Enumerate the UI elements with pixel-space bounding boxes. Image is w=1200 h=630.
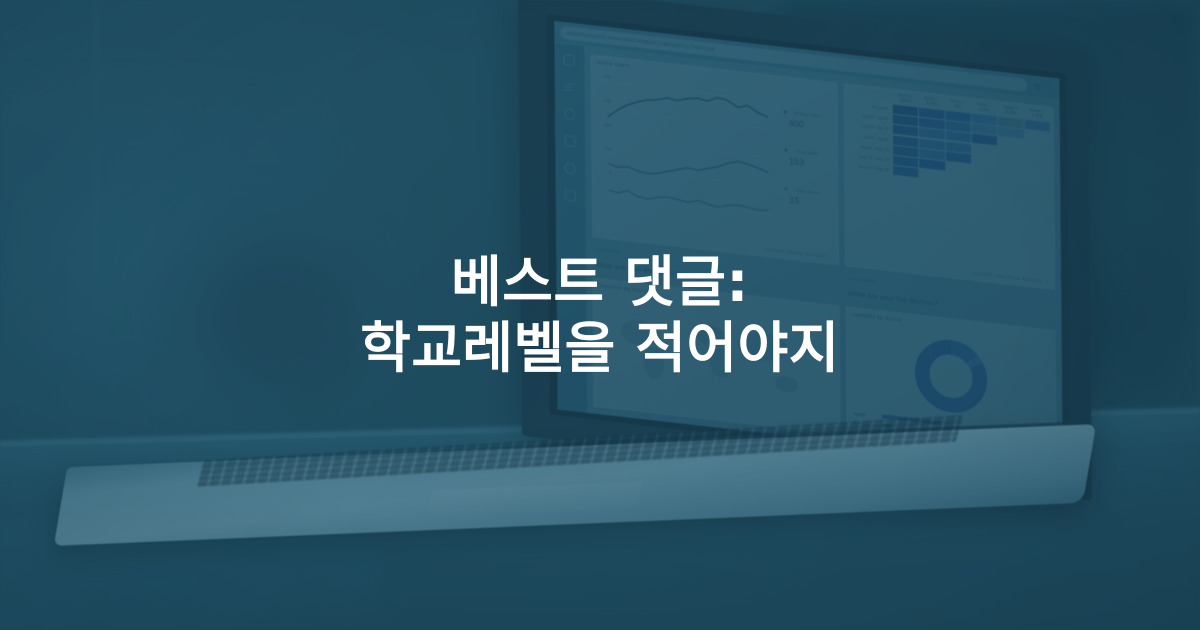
app-sidebar [555, 43, 588, 413]
world-map [600, 293, 834, 427]
users-icon[interactable] [564, 108, 575, 120]
metric-value: 400 [789, 119, 830, 133]
laptop: analytics/report5-home/a5837400bw1219810… [0, 0, 1200, 630]
metric-item: 1 Day Users 15 [784, 177, 830, 210]
chart-icon[interactable] [564, 135, 575, 147]
dashboard-right-column: Week 0 Week 1 Week 2 Week 3 Week 4 Week … [843, 83, 1056, 459]
dashboard-left-column: Active Users [591, 54, 841, 435]
sessions-by-country-card: Sessions by country [593, 277, 841, 435]
chevron-right-icon: › [1047, 279, 1050, 285]
metric-value: 15 [789, 196, 830, 210]
og-image-card: analytics/report5-home/a5837400bw1219810… [0, 0, 1200, 630]
active-users-card: Active Users [591, 54, 839, 265]
report-link-label: ACTIVE USERS REPORT [765, 247, 828, 259]
laptop-screen: analytics/report5-home/a5837400bw1219810… [554, 21, 1062, 467]
background-photo: analytics/report5-home/a5837400bw1219810… [0, 0, 1200, 630]
report-icon[interactable] [564, 81, 575, 93]
dashboard-content: Active Users [585, 46, 1063, 467]
cohort-cell-empty [1025, 181, 1050, 193]
settings-icon[interactable] [565, 162, 576, 174]
active-users-report-link[interactable]: ACTIVE USERS REPORT › [765, 247, 833, 261]
metric-item: 7 Day Users 153 [784, 139, 830, 172]
cohort-grid: Week 0 Week 1 Week 2 Week 3 Week 4 Week … [847, 86, 1050, 192]
y-tick: 200 [595, 121, 611, 128]
y-tick: 300 [595, 97, 611, 104]
report-link-label: COHORT ANALYSIS REPORT [970, 271, 1043, 284]
cohort-cell-empty [920, 169, 945, 181]
cohort-cell [893, 166, 918, 178]
metric-value: 153 [789, 157, 830, 171]
y-tick: 400 [595, 73, 611, 80]
chevron-right-icon: › [830, 254, 833, 260]
cohort-analysis-card: Week 0 Week 1 Week 2 Week 3 Week 4 Week … [843, 83, 1055, 290]
donut-svg [913, 334, 990, 419]
cohort-cell-empty [946, 172, 971, 184]
star-icon[interactable] [1032, 82, 1041, 92]
active-users-legend: 30 Day Users 400 7 Day Users 153 [784, 100, 831, 221]
kebab-menu-icon[interactable] [1046, 84, 1053, 92]
cohort-cell-empty [999, 178, 1024, 190]
metric-label: 1 Day Users [794, 187, 819, 195]
active-users-chart: 400 300 200 100 0 [596, 69, 834, 246]
home-icon[interactable] [564, 54, 575, 66]
cohort-cell-empty [972, 175, 997, 187]
cohort-report-link[interactable]: COHORT ANALYSIS REPORT › [970, 270, 1049, 285]
help-icon[interactable] [565, 189, 576, 201]
active-users-y-axis: 400 300 200 100 0 [595, 73, 612, 195]
y-tick: 100 [595, 145, 611, 152]
metric-label: 30 Day Users [794, 110, 821, 118]
metric-item: 30 Day Users 400 [784, 100, 830, 133]
analytics-app: Active Users [555, 43, 1063, 467]
metric-label: 7 Day Users [794, 149, 819, 157]
y-tick: 0 [596, 169, 612, 176]
